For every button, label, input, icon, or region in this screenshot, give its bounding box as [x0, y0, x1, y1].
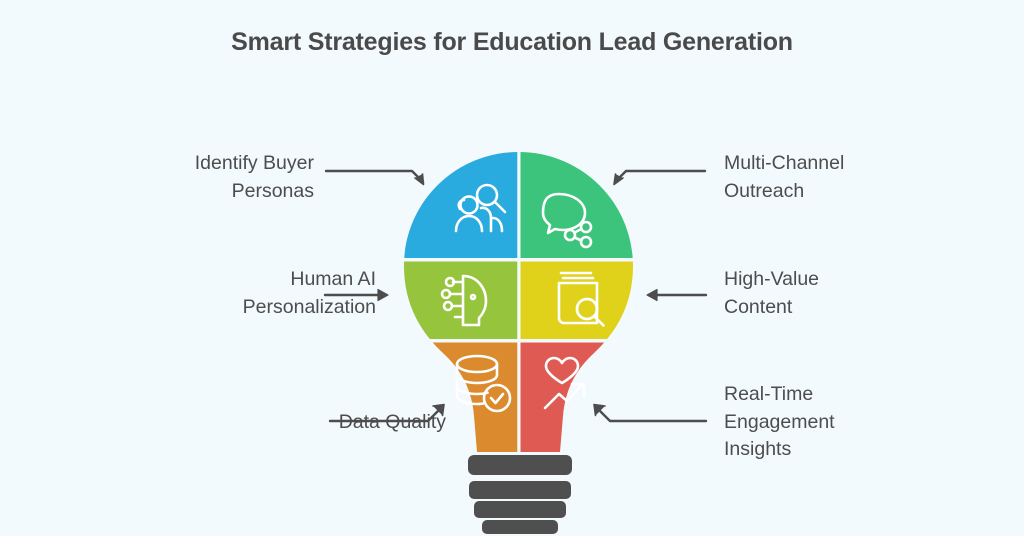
- segment-real-time-engagement[interactable]: [519, 342, 640, 462]
- label-multi-channel-outreach[interactable]: Multi-Channel Outreach: [724, 150, 1004, 205]
- label-high-value-content[interactable]: High-Value Content: [724, 266, 1004, 321]
- segment-human-ai-personalization[interactable]: [398, 261, 519, 339]
- arrow-high-value-content: [647, 290, 706, 301]
- arrow-real-time-engagement: [594, 405, 706, 422]
- bulb-screw-base: [468, 455, 572, 534]
- label-real-time-engagement[interactable]: Real-Time Engagement Insights: [724, 381, 1004, 464]
- arrow-multi-channel-outreach: [614, 171, 705, 185]
- arrow-identify-buyer-personas: [326, 171, 424, 185]
- label-identify-buyer-personas[interactable]: Identify Buyer Personas: [54, 150, 314, 205]
- label-human-ai-personalization[interactable]: Human AI Personalization: [76, 266, 376, 321]
- infographic-canvas: Smart Strategies for Education Lead Gene…: [0, 0, 1024, 536]
- label-data-quality[interactable]: Data Quality: [146, 409, 446, 437]
